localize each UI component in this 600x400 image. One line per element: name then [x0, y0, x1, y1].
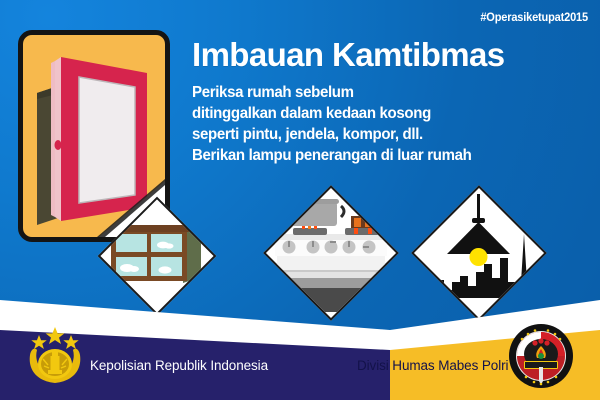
body-line-2: ditinggalkan dalam kedaan kosong: [192, 103, 580, 124]
poster-canvas: #Operasiketupat2015 Imbauan Kamtibmas Pe…: [0, 0, 600, 400]
advisory-body-text: Periksa rumah sebelum ditinggalkan dalam…: [192, 82, 592, 166]
polri-star-emblem-icon: [26, 325, 84, 387]
body-line-4: Berikan lampu penerangan di luar rumah: [192, 145, 580, 166]
humas-polri-badge-icon: [508, 323, 574, 389]
page-title: Imbauan Kamtibmas: [192, 36, 505, 74]
campaign-hashtag: #Operasiketupat2015: [480, 10, 588, 24]
footer-left-label: Kepolisian Republik Indonesia: [90, 358, 268, 373]
body-line-3: seperti pintu, jendela, kompor, dll.: [192, 124, 580, 145]
footer-right-label: Divisi Humas Mabes Polri: [357, 358, 508, 373]
body-line-1: Periksa rumah sebelum: [192, 82, 580, 103]
